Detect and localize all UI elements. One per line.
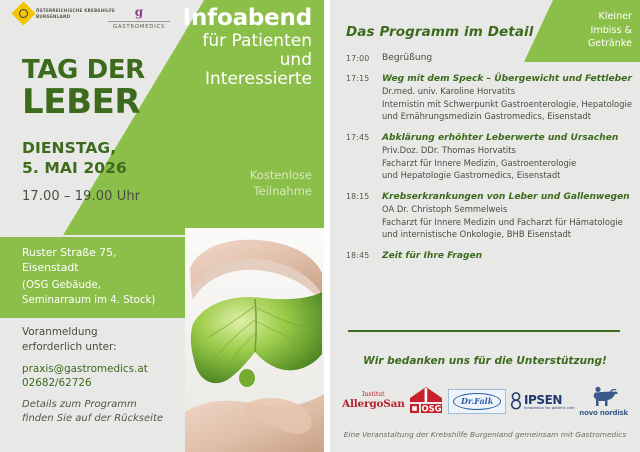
venue-address-sub1: (OSG Gebäude, xyxy=(22,279,175,293)
event-date: DIENSTAG, 5. MAI 2026 xyxy=(22,139,197,179)
program-item: 18:45 Zeit für Ihre Fragen xyxy=(346,250,634,262)
program-item-time: 18:15 xyxy=(346,191,382,241)
ipsen-tagline: Innovation for patient care xyxy=(524,407,575,411)
registration-details: praxis@gastromedics.at 02682/62726 xyxy=(22,362,187,391)
ipsen-name: IPSEN xyxy=(524,394,575,406)
krebshilfe-logo-text: ÖSTERREICHISCHE KREBSHILFE BURGENLAND xyxy=(36,8,115,20)
ipsen-mark-icon xyxy=(511,391,522,411)
program-item: 17:00 Begrüßung xyxy=(346,52,634,66)
gastromedics-g-icon: g xyxy=(108,6,170,18)
headline-line1: TAG DER xyxy=(22,56,197,84)
program-item-heading: Begrüßung xyxy=(382,52,634,66)
backside-note: Details zum Programm finden Sie auf der … xyxy=(22,398,187,426)
osg-mark-icon: OSG xyxy=(409,386,443,416)
sponsor-logo-ipsen: IPSEN Innovation for patient care xyxy=(511,391,575,411)
program-item: 18:15 Krebserkrankungen von Leber und Ga… xyxy=(346,191,634,241)
gastromedics-logo: g GASTROMEDICS xyxy=(108,6,170,30)
program-item-time: 17:45 xyxy=(346,132,382,182)
liver-in-hands-photo xyxy=(185,228,324,452)
section-divider xyxy=(348,330,620,332)
event-headline: TAG DER LEBER DIENSTAG, 5. MAI 2026 17.0… xyxy=(22,56,197,204)
program-item-heading: Zeit für Ihre Fragen xyxy=(382,250,634,262)
refreshments-line2: Imbiss & xyxy=(536,24,632,38)
registration-phone[interactable]: 02682/62726 xyxy=(22,376,187,390)
headline-line2: LEBER xyxy=(22,85,197,121)
novo-nordisk-bull-icon xyxy=(589,386,619,408)
venue-address-detail: (OSG Gebäude, Seminarraum im 4. Stock) xyxy=(22,279,175,308)
program-item-time: 17:00 xyxy=(346,52,382,66)
novo-nordisk-name: novo nordisk xyxy=(579,409,628,417)
program-item-body: Weg mit dem Speck – Übergewicht und Fett… xyxy=(382,73,634,123)
event-date-line2: 5. MAI 2026 xyxy=(22,159,197,179)
program-item-speaker: Dr.med. univ. Karoline Horvatits xyxy=(382,85,634,98)
venue-address-band: Ruster Straße 75, Eisenstadt (OSG Gebäud… xyxy=(0,237,185,318)
flyer-spread: Infoabend für Patienten und Interessiert… xyxy=(0,0,640,452)
program-item-detail: und Hepatologie Gastromedics, Eisenstadt xyxy=(382,169,634,182)
program-item-body: Begrüßung xyxy=(382,52,634,66)
sponsor-logo-allergosan: Institut AllergoSan xyxy=(342,392,405,410)
program-list: 17:00 Begrüßung 17:15 Weg mit dem Speck … xyxy=(346,52,634,271)
top-logo-row: ÖSTERREICHISCHE KREBSHILFE BURGENLAND g … xyxy=(0,0,200,44)
program-item-detail: Facharzt für Innere Medizin, Gastroenter… xyxy=(382,157,634,170)
refreshments-line1: Kleiner xyxy=(536,10,632,24)
program-item-heading: Krebserkrankungen von Leber und Gallenwe… xyxy=(382,191,634,203)
krebshilfe-logo-line2: BURGENLAND xyxy=(36,14,115,20)
program-item-heading: Abklärung erhöhter Leberwerte und Ursach… xyxy=(382,132,634,144)
program-item-detail: Internistin mit Schwerpunkt Gastroentero… xyxy=(382,98,634,111)
registration-email[interactable]: praxis@gastromedics.at xyxy=(22,362,187,376)
allergosan-name: AllergoSan xyxy=(342,399,405,410)
gastromedics-rule xyxy=(108,21,170,22)
gastromedics-logo-text: GASTROMEDICS xyxy=(108,24,170,30)
thanks-message: Wir bedanken uns für die Unterstützung! xyxy=(330,355,640,367)
sponsor-logo-novo-nordisk: novo nordisk xyxy=(579,386,628,417)
program-item-speaker: OA Dr. Christoph Semmelweis xyxy=(382,203,634,216)
program-item-time: 17:15 xyxy=(346,73,382,123)
refreshments-note: Kleiner Imbiss & Getränke xyxy=(536,10,632,51)
event-date-line1: DIENSTAG, xyxy=(22,139,197,159)
program-item: 17:45 Abklärung erhöhter Leberwerte und … xyxy=(346,132,634,182)
program-item-body: Krebserkrankungen von Leber und Gallenwe… xyxy=(382,191,634,241)
ipsen-text-block: IPSEN Innovation for patient care xyxy=(524,394,575,411)
program-item: 17:15 Weg mit dem Speck – Übergewicht un… xyxy=(346,73,634,123)
registration-head2: erforderlich unter: xyxy=(22,340,187,355)
liver-photo-graphic xyxy=(185,228,324,452)
backside-note-line2: finden Sie auf der Rückseite xyxy=(22,412,187,426)
venue-address-sub2: Seminarraum im 4. Stock) xyxy=(22,294,175,308)
registration-contact: Voranmeldung erforderlich unter: praxis@… xyxy=(22,325,187,390)
program-item-detail: und Ernährungsmedizin Gastromedics, Eise… xyxy=(382,110,634,123)
program-item-heading: Weg mit dem Speck – Übergewicht und Fett… xyxy=(382,73,634,85)
event-time: 17.00 – 19.00 Uhr xyxy=(22,189,197,204)
program-item-body: Zeit für Ihre Fragen xyxy=(382,250,634,262)
left-page: Infoabend für Patienten und Interessiert… xyxy=(0,0,324,452)
program-item-time: 18:45 xyxy=(346,250,382,262)
sponsor-logo-dr-falk: Dr.Falk xyxy=(448,389,506,414)
dr-falk-name: Dr.Falk xyxy=(453,393,501,410)
backside-note-line1: Details zum Programm xyxy=(22,398,187,412)
sponsor-logo-row: Institut AllergoSan OSG Dr.Falk xyxy=(338,382,632,420)
program-title: Das Programm im Detail xyxy=(346,24,534,40)
sponsor-logo-osg: OSG xyxy=(409,386,443,416)
program-item-detail: Facharzt für Innere Medizin und Facharzt… xyxy=(382,216,634,229)
program-item-detail: und internistische Onkologie, BHB Eisens… xyxy=(382,228,634,241)
venue-address-main: Ruster Straße 75, Eisenstadt xyxy=(22,246,175,275)
krebshilfe-logo-line1: ÖSTERREICHISCHE KREBSHILFE xyxy=(36,8,115,14)
organizer-footer: Eine Veranstaltung der Krebshilfe Burgen… xyxy=(330,430,640,439)
gallbladder-shape xyxy=(239,369,255,387)
krebshilfe-diamond-icon xyxy=(11,1,35,25)
program-item-body: Abklärung erhöhter Leberwerte und Ursach… xyxy=(382,132,634,182)
svg-text:OSG: OSG xyxy=(422,403,442,413)
krebshilfe-logo: ÖSTERREICHISCHE KREBSHILFE BURGENLAND xyxy=(15,5,115,22)
program-item-speaker: Priv.Doz. DDr. Thomas Horvatits xyxy=(382,144,634,157)
refreshments-line3: Getränke xyxy=(536,37,632,51)
right-page: Kleiner Imbiss & Getränke Das Programm i… xyxy=(330,0,640,452)
registration-head1: Voranmeldung xyxy=(22,325,187,340)
